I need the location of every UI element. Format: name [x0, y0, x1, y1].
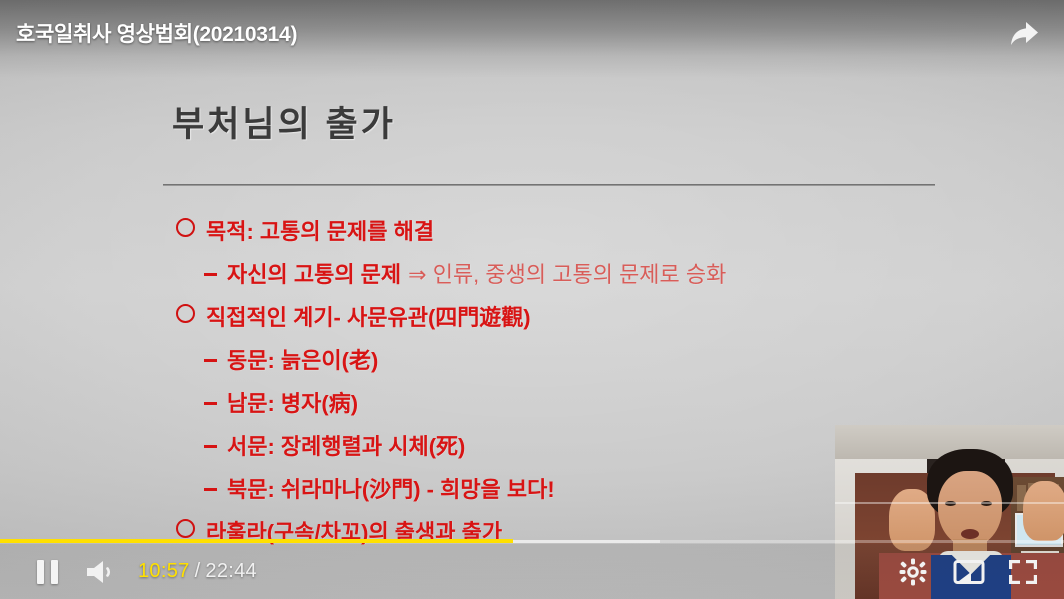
time-total: 22:44 [205, 560, 257, 583]
settings-button[interactable] [890, 544, 936, 599]
list-item-label: 직접적인 계기- 사문유관(四門遊觀) [206, 300, 531, 332]
list-item-label: 북문: 쉬라마나(沙門) - 희망을 보다! [227, 472, 555, 504]
dash-bullet-icon [204, 359, 217, 362]
circle-bullet-icon [176, 304, 195, 323]
pause-icon [51, 560, 58, 584]
list-item-label: 서문: 장례행렬과 시체(死) [227, 429, 465, 461]
list-item: 목적: 고통의 문제를 해결 [176, 214, 976, 257]
slide-title: 부처님의 출가 [172, 96, 396, 147]
list-item-label: 자신의 고통의 문제 [227, 257, 401, 289]
volume-low-icon [85, 559, 119, 585]
time-separator: / [195, 560, 201, 583]
dash-bullet-icon [204, 273, 217, 276]
list-item: 동문: 늙은이(老) [204, 343, 976, 386]
pause-button[interactable] [24, 544, 70, 599]
dash-bullet-icon [204, 445, 217, 448]
gear-icon [898, 557, 928, 587]
list-item: 자신의 고통의 문제 ⇒ 인류, 중생의 고통의 문제로 승화 [204, 257, 976, 300]
list-item-label: 동문: 늙은이(老) [227, 343, 378, 375]
pip-mouth [961, 529, 979, 539]
circle-bullet-icon [176, 218, 195, 237]
miniplayer-button[interactable] [946, 544, 992, 599]
pip-scanline [835, 502, 1064, 504]
slide-title-divider [163, 184, 935, 186]
dash-bullet-icon [204, 402, 217, 405]
list-item-label: 남문: 병자(病) [227, 386, 358, 418]
video-title: 호국일취사 영상법회(20210314) [16, 18, 297, 48]
progress-played [0, 539, 513, 543]
share-arrow-icon [1008, 19, 1040, 49]
list-item: 남문: 병자(病) [204, 386, 976, 429]
video-player[interactable]: 부처님의 출가 목적: 고통의 문제를 해결 자신의 고통의 문제 ⇒ 인류, … [0, 0, 1064, 599]
dash-bullet-icon [204, 488, 217, 491]
fullscreen-icon [1008, 559, 1038, 585]
miniplayer-icon [953, 559, 985, 585]
list-item-label: 목적: 고통의 문제를 해결 [206, 214, 434, 246]
player-control-bar[interactable]: 10:57 / 22:44 [0, 544, 1064, 599]
time-display: 10:57 / 22:44 [138, 544, 257, 599]
volume-button[interactable] [78, 544, 126, 599]
fullscreen-button[interactable] [1000, 544, 1046, 599]
list-item: 직접적인 계기- 사문유관(四門遊觀) [176, 300, 976, 343]
list-item-sublabel: ⇒ 인류, 중생의 고통의 문제로 승화 [408, 257, 726, 289]
share-button[interactable] [1004, 14, 1044, 54]
time-current: 10:57 [138, 560, 190, 583]
circle-bullet-icon [176, 519, 195, 538]
pip-right-hand [1023, 481, 1064, 541]
pause-icon [37, 560, 44, 584]
